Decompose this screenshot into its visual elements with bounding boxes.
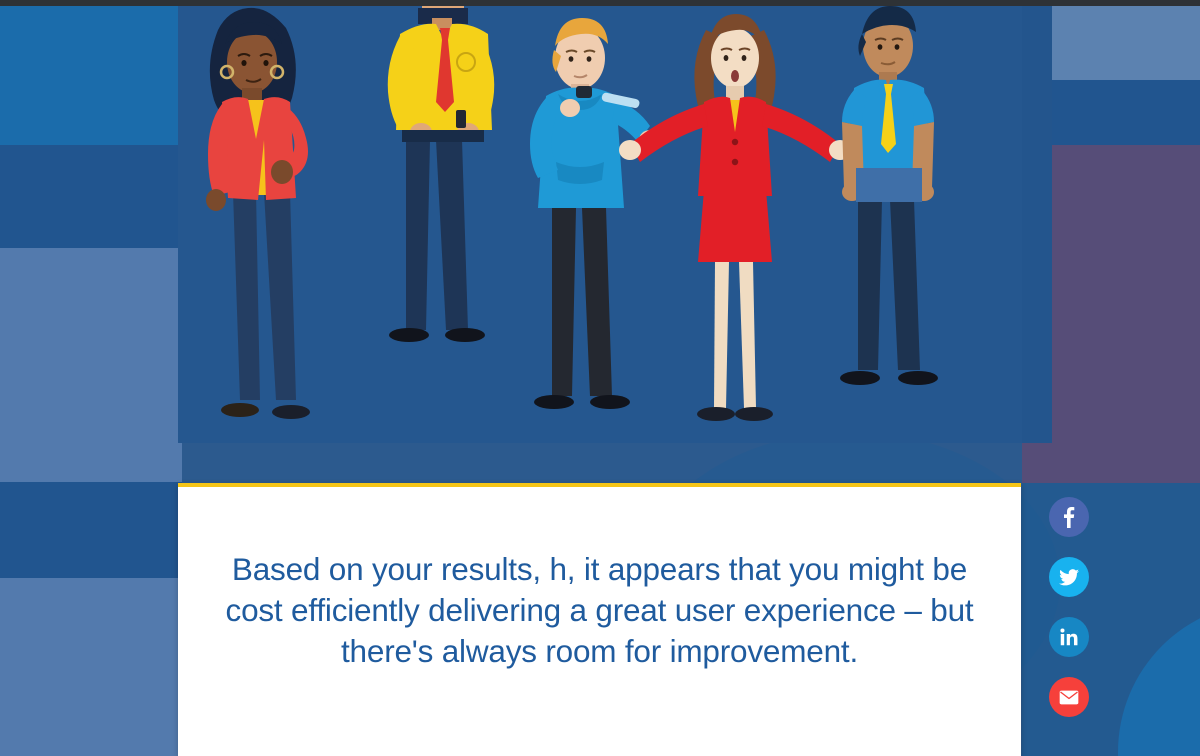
bg-band-left-5: [0, 578, 182, 756]
share-email-button[interactable]: [1049, 677, 1089, 717]
page-root: Based on your results, h, it appears tha…: [0, 0, 1200, 756]
result-message: Based on your results, h, it appears tha…: [222, 549, 977, 672]
bg-band-left-3: [0, 248, 182, 482]
email-icon: [1059, 690, 1079, 705]
share-facebook-button[interactable]: [1049, 497, 1089, 537]
twitter-icon: [1059, 569, 1079, 586]
share-twitter-button[interactable]: [1049, 557, 1089, 597]
social-share-rail: [1049, 497, 1091, 737]
team-illustration: [178, 0, 1022, 443]
result-card: Based on your results, h, it appears tha…: [178, 483, 1021, 756]
share-linkedin-button[interactable]: [1049, 617, 1089, 657]
team-illustration-svg: [178, 0, 1022, 443]
bg-band-left-2: [0, 145, 182, 248]
bg-band-left-4: [0, 482, 182, 578]
browser-chrome-strip: [0, 0, 1200, 6]
bg-band-right-nub: [1022, 6, 1052, 443]
bg-band-left-1: [0, 6, 182, 145]
linkedin-icon: [1060, 628, 1078, 646]
facebook-icon: [1063, 506, 1075, 528]
